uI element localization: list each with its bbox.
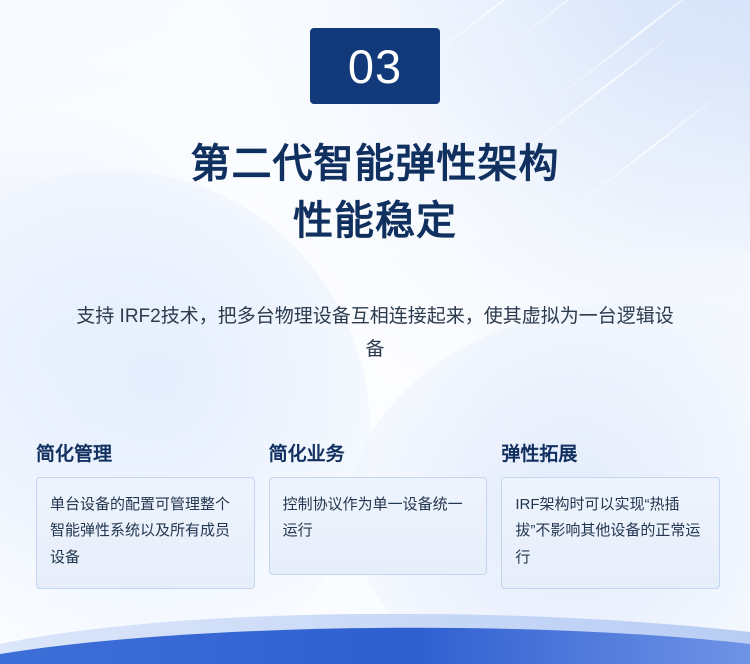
feature-card-list: 简化管理 单台设备的配置可管理整个智能弹性系统以及所有成员设备 简化业务 控制协… xyxy=(36,444,720,589)
slide-title: 第二代智能弹性架构 性能稳定 xyxy=(0,136,750,250)
feature-card: 弹性拓展 IRF架构时可以实现“热插拔”不影响其他设备的正常运行 xyxy=(501,444,720,589)
title-line-1: 第二代智能弹性架构 xyxy=(0,136,750,193)
bottom-decorative-band xyxy=(0,614,750,664)
slide-page: 03 第二代智能弹性架构 性能稳定 支持 IRF2技术，把多台物理设备互相连接起… xyxy=(0,0,750,664)
feature-card-text: 单台设备的配置可管理整个智能弹性系统以及所有成员设备 xyxy=(50,492,241,572)
feature-card: 简化业务 控制协议作为单一设备统一运行 xyxy=(269,444,488,589)
feature-card-title: 简化业务 xyxy=(269,444,488,467)
feature-card-text: IRF架构时可以实现“热插拔”不影响其他设备的正常运行 xyxy=(515,492,706,572)
feature-card-title: 简化管理 xyxy=(36,444,255,467)
feature-card-body: 控制协议作为单一设备统一运行 xyxy=(269,477,488,575)
feature-card-title: 弹性拓展 xyxy=(501,444,720,467)
section-number: 03 xyxy=(348,43,402,90)
feature-card-text: 控制协议作为单一设备统一运行 xyxy=(283,492,474,545)
section-number-badge: 03 xyxy=(310,28,440,104)
feature-card: 简化管理 单台设备的配置可管理整个智能弹性系统以及所有成员设备 xyxy=(36,444,255,589)
title-line-2: 性能稳定 xyxy=(0,193,750,250)
feature-card-body: 单台设备的配置可管理整个智能弹性系统以及所有成员设备 xyxy=(36,477,255,589)
feature-card-body: IRF架构时可以实现“热插拔”不影响其他设备的正常运行 xyxy=(501,477,720,589)
slide-subtitle: 支持 IRF2技术，把多台物理设备互相连接起来，使其虚拟为一台逻辑设备 xyxy=(75,300,675,367)
